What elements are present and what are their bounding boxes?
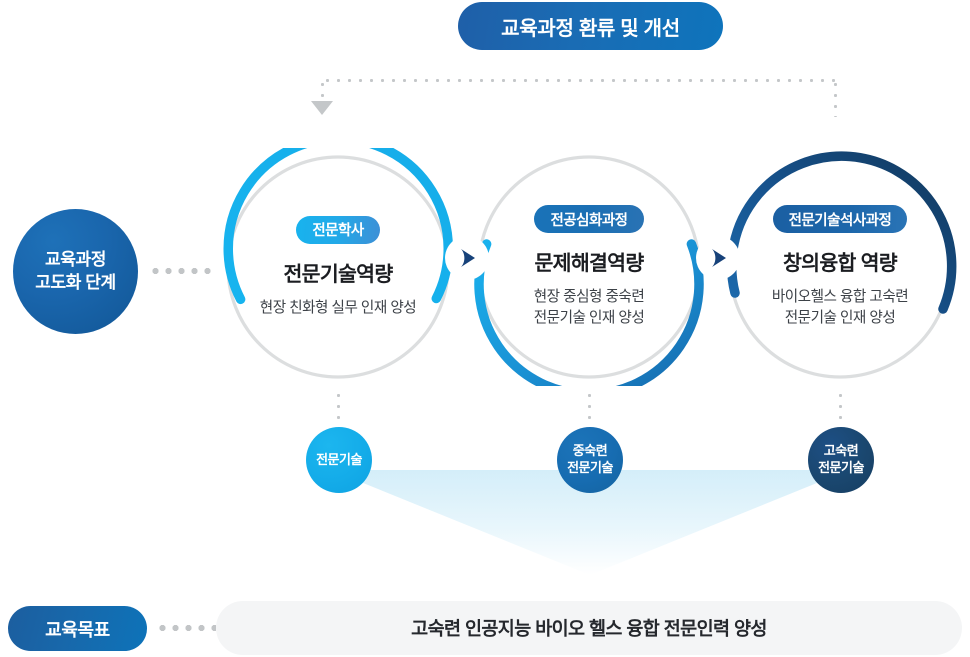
triangle-down-icon [311,101,333,115]
skill-badge-1-text: 전문기술 [316,452,362,469]
diagram-canvas: 교육과정 환류 및 개선 교육과정 고도화 단계 [0,0,970,657]
ring-2-desc-line2: 전문기술 인재 양성 [534,308,645,329]
ring-3-content: 전문기술석사과정 창의융합 역량 바이오헬스 융합 고숙련 전문기술 인재 양성 [721,148,959,386]
skill-badge-3-line1: 고숙련 [818,443,864,460]
course-pill-2-label: 전공심화과정 [550,209,627,230]
ring-1-content: 전문학사 전문기술역량 현장 친화형 실무 인재 양성 [219,148,457,386]
ring-3-desc: 바이오헬스 융합 고숙련 전문기술 인재 양성 [772,287,908,328]
stage-label-line1: 교육과정 [45,249,106,271]
goal-connector-dots [156,625,216,631]
stage-label-line2: 고도화 단계 [35,272,116,294]
course-pill-1: 전문학사 [296,216,379,244]
ring-2-title: 문제해결역량 [535,246,644,276]
skill-badge-2-line2: 전문기술 [567,460,613,477]
chevron-right-glyph [456,247,478,269]
goal-text-bar: 고숙련 인공지능 바이오 헬스 융합 전문인력 양성 [216,601,962,655]
course-pill-3: 전문기술석사과정 [773,205,908,233]
ring-2-content: 전공심화과정 문제해결역량 현장 중심형 중숙련 전문기술 인재 양성 [470,148,708,386]
course-pill-3-label: 전문기술석사과정 [789,209,892,230]
ring-stage-3: 전문기술석사과정 창의융합 역량 바이오헬스 융합 고숙련 전문기술 인재 양성 [721,148,959,386]
ring-1-desc-line1: 현장 친화형 실무 인재 양성 [260,298,416,319]
skill-badge-3: 고숙련 전문기술 [808,427,874,493]
goal-text: 고숙련 인공지능 바이오 헬스 융합 전문인력 양성 [411,615,767,641]
feedback-dotted-line-horizontal [322,79,836,82]
ring-3-desc-line1: 바이오헬스 융합 고숙련 [772,287,908,308]
ring-1-title: 전문기술역량 [284,257,393,287]
course-pill-2: 전공심화과정 [534,205,643,233]
goal-label: 교육목표 [45,616,110,642]
feedback-dotted-line-left [321,79,324,103]
chevron-right-icon [696,236,740,280]
feedback-header-label: 교육과정 환류 및 개선 [501,12,680,41]
skill-badge-3-line2: 전문기술 [818,460,864,477]
goal-label-pill: 교육목표 [8,606,147,651]
skill-badge-2-line1: 중숙련 [567,443,613,460]
skill-badge-2-text: 중숙련 전문기술 [567,443,613,477]
feedback-header-pill: 교육과정 환류 및 개선 [458,2,723,50]
skill-badge-1: 전문기술 [306,427,372,493]
skill-badge-1-line1: 전문기술 [316,452,362,469]
skill-badge-3-text: 고숙련 전문기술 [818,443,864,477]
stage-badge: 교육과정 고도화 단계 [13,209,138,334]
stage-connector-dots [149,268,215,274]
skill-badge-2: 중숙련 전문기술 [557,427,623,493]
course-pill-1-label: 전문학사 [312,219,363,240]
ring-stage-2: 전공심화과정 문제해결역량 현장 중심형 중숙련 전문기술 인재 양성 [470,148,708,386]
badge-connector-dots-2 [588,390,591,427]
ring-3-desc-line2: 전문기술 인재 양성 [772,308,908,329]
chevron-right-icon [445,236,489,280]
ring-3-title: 창의융합 역량 [783,246,897,276]
badge-connector-dots-3 [839,390,842,427]
ring-2-desc: 현장 중심형 중숙련 전문기술 인재 양성 [534,287,645,328]
ring-1-desc: 현장 친화형 실무 인재 양성 [260,298,416,319]
badge-connector-dots-1 [337,390,340,427]
feedback-dotted-line-right [834,79,837,117]
ring-stage-1: 전문학사 전문기술역량 현장 친화형 실무 인재 양성 [219,148,457,386]
chevron-right-glyph [707,247,729,269]
ring-2-desc-line1: 현장 중심형 중숙련 [534,287,645,308]
